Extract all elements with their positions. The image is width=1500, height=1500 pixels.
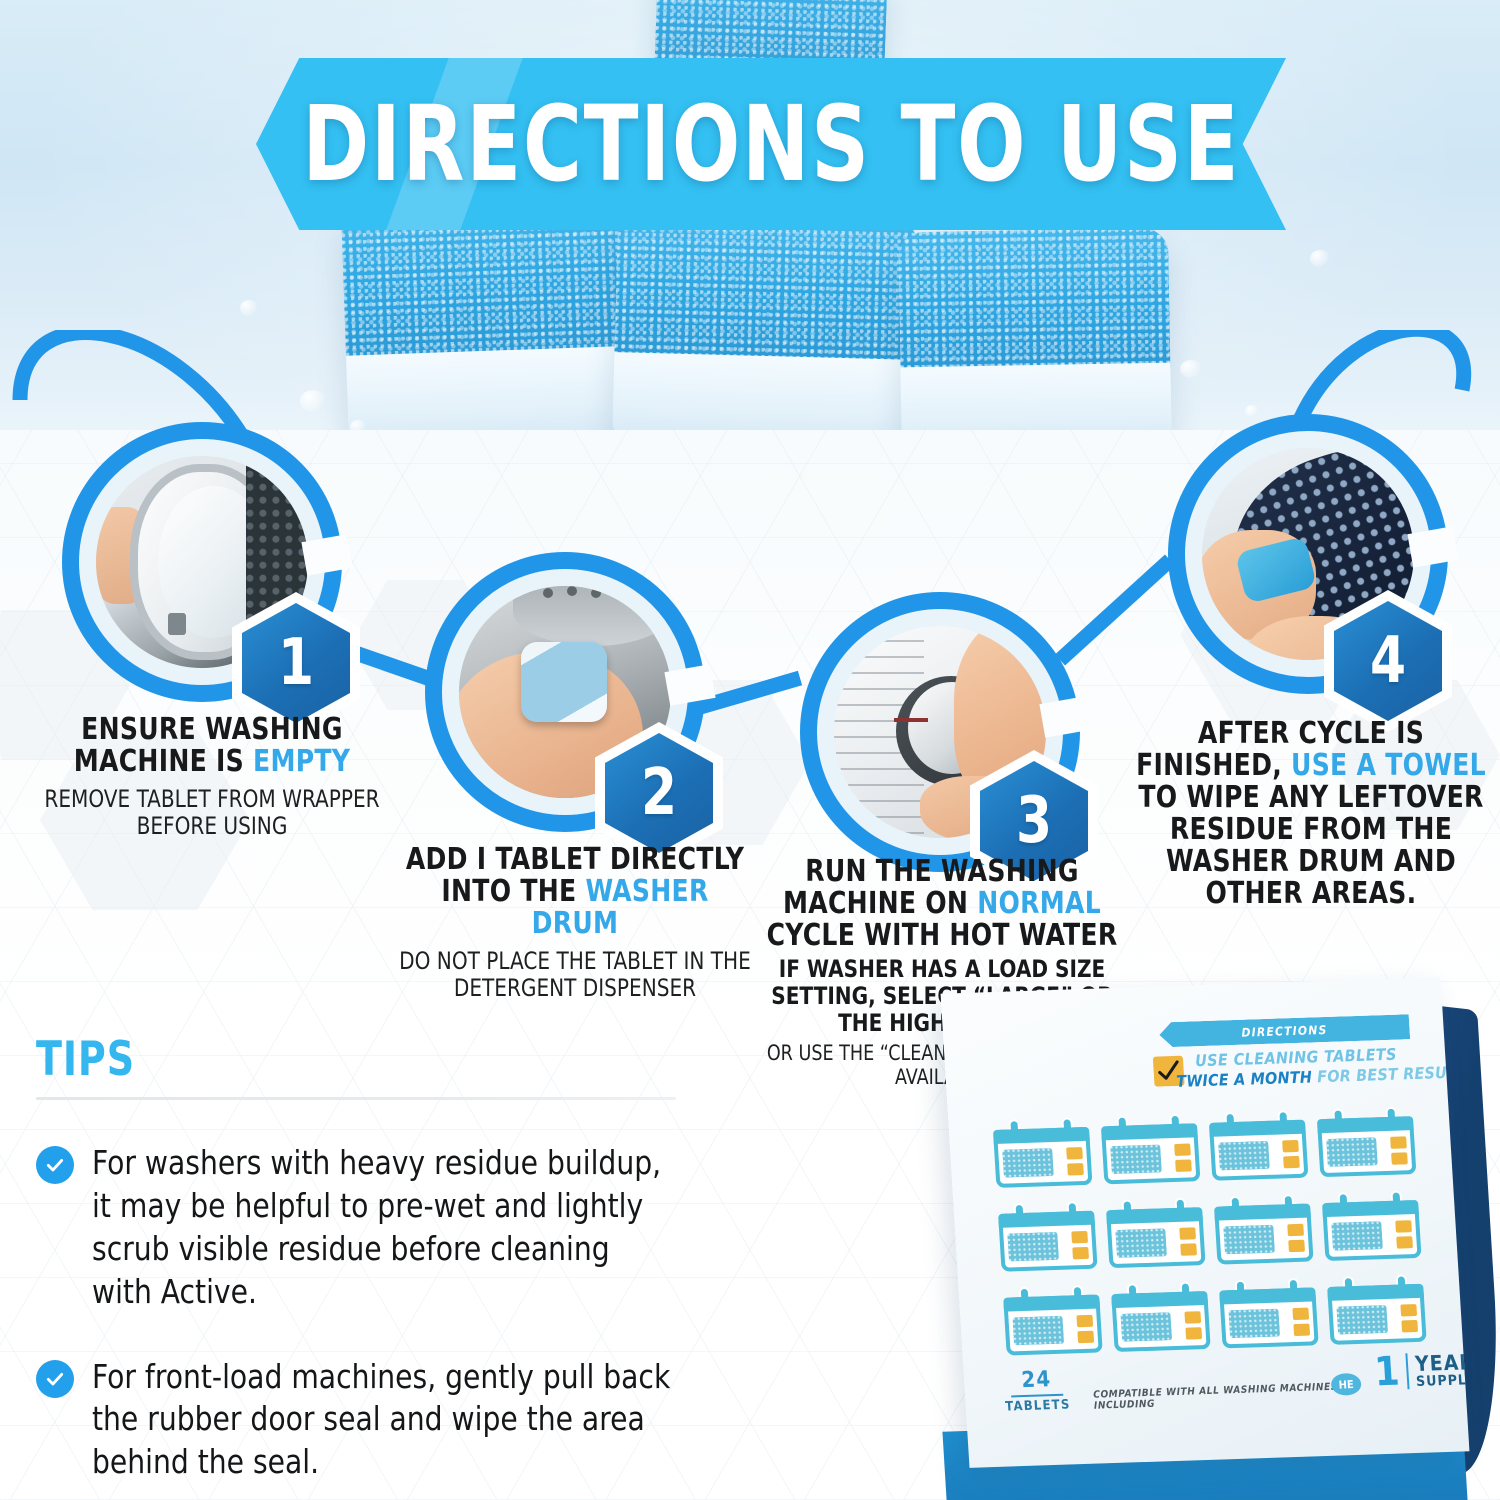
calendar-icon: [1105, 1197, 1205, 1268]
step-2: 2 ADD I TABLET DIRECTLY INTO THE WASHER …: [425, 552, 705, 832]
step-2-text: ADD I TABLET DIRECTLY INTO THE WASHER DR…: [380, 844, 770, 1002]
step-3-number: 3: [1016, 784, 1052, 858]
tip-text: For front-load machines, gently pull bac…: [92, 1356, 677, 1485]
step-2-headline: ADD I TABLET DIRECTLY INTO THE WASHER DR…: [394, 844, 757, 940]
he-badge-icon: HE: [1330, 1373, 1361, 1396]
tablet-center: [612, 211, 918, 454]
step-4-headline-highlight: USE A TOWEL: [1291, 748, 1486, 783]
water-droplet: [240, 300, 258, 316]
check-icon: [36, 1360, 74, 1398]
calendar-icon: [1100, 1113, 1200, 1184]
calendar-grid: [992, 1106, 1426, 1355]
calendar-icon: [1316, 1106, 1416, 1177]
box-tablet-count: 24 TABLETS: [1000, 1366, 1075, 1414]
box-supply-duration: 1 YEAR SUPPLY: [1373, 1349, 1469, 1392]
page-title: DIRECTIONS TO USE: [302, 83, 1240, 205]
box-supply-number: 1: [1373, 1352, 1400, 1393]
calendar-icon: [1208, 1110, 1308, 1181]
box-directions-label: DIRECTIONS: [1241, 1022, 1328, 1039]
step-1-subtext: REMOVE TABLET FROM WRAPPER BEFORE USING: [35, 786, 388, 840]
tips-heading: TIPS: [36, 1032, 641, 1087]
tips-section: TIPS For washers with heavy residue buil…: [36, 1032, 708, 1484]
step-4-circle: 4: [1168, 414, 1448, 694]
box-tablet-count-label: TABLETS: [1001, 1397, 1074, 1414]
step-3-circle: 3: [800, 592, 1080, 872]
step-1-number: 1: [278, 626, 314, 700]
box-footer: 24 TABLETS COMPATIBLE WITH ALL WASHING M…: [1000, 1355, 1433, 1421]
water-droplet: [300, 390, 326, 412]
step-4-headline: AFTER CYCLE IS FINISHED, USE A TOWEL TO …: [1135, 718, 1487, 911]
calendar-icon: [1321, 1190, 1421, 1261]
step-2-number: 2: [641, 756, 677, 830]
step-1-text: ENSURE WASHING MACHINE IS EMPTY REMOVE T…: [22, 714, 402, 840]
check-icon: [36, 1146, 74, 1184]
tip-item: For washers with heavy residue buildup, …: [36, 1142, 708, 1314]
step-3-headline-highlight: NORMAL: [977, 886, 1101, 921]
calendar-icon: [1003, 1285, 1103, 1356]
box-tablet-count-number: 24: [1000, 1366, 1074, 1393]
step-3: 3 RUN THE WASHING MACHINE ON NORMAL CYCL…: [800, 592, 1080, 872]
step-4-number: 4: [1370, 624, 1406, 698]
step-1: 1 ENSURE WASHING MACHINE IS EMPTY REMOVE…: [62, 422, 342, 702]
step-1-headline: ENSURE WASHING MACHINE IS EMPTY: [35, 714, 388, 778]
step-4-headline-after: TO WIPE ANY LEFTOVER RESIDUE FROM THE WA…: [1138, 780, 1483, 911]
box-supply-unit-year: YEAR: [1414, 1352, 1469, 1375]
step-1-headline-highlight: EMPTY: [253, 744, 350, 779]
title-banner: DIRECTIONS TO USE: [256, 58, 1286, 230]
box-compatibility-text: COMPATIBLE WITH ALL WASHING MACHINES, IN…: [1093, 1381, 1344, 1411]
step-2-subtext: DO NOT PLACE THE TABLET IN THE DETERGENT…: [394, 948, 757, 1002]
calendar-icon: [1327, 1274, 1427, 1345]
product-box: DIRECTIONS USE CLEANING TABLETS TWICE A …: [955, 985, 1500, 1500]
step-1-circle: 1: [62, 422, 342, 702]
water-droplet: [1180, 360, 1202, 378]
calendar-icon: [1213, 1194, 1313, 1265]
water-droplet: [1310, 250, 1330, 267]
box-usage-bold: TWICE A MONTH: [1176, 1067, 1313, 1090]
tip-item: For front-load machines, gently pull bac…: [36, 1356, 708, 1485]
calendar-icon: [992, 1117, 1092, 1188]
step-4-text: AFTER CYCLE IS FINISHED, USE A TOWEL TO …: [1122, 718, 1500, 911]
box-usage-rest: FOR BEST RESULTS: [1311, 1062, 1469, 1086]
step-3-headline-after: CYCLE WITH HOT WATER: [767, 918, 1118, 953]
tablet-right: [898, 228, 1172, 458]
he-badge-label: HE: [1338, 1378, 1354, 1391]
box-lid: DIRECTIONS USE CLEANING TABLETS TWICE A …: [941, 977, 1470, 1468]
step-3-headline: RUN THE WASHING MACHINE ON NORMAL CYCLE …: [756, 856, 1128, 952]
tips-divider: [36, 1097, 676, 1100]
box-supply-unit-supply: SUPPLY: [1416, 1373, 1470, 1389]
step-2-circle: 2: [425, 552, 705, 832]
box-directions-banner: DIRECTIONS: [1159, 1014, 1410, 1047]
tip-text: For washers with heavy residue buildup, …: [92, 1142, 677, 1314]
infographic-page: DIRECTIONS TO USE: [0, 0, 1500, 1500]
hero-product-photo: DIRECTIONS TO USE: [0, 0, 1500, 470]
calendar-icon: [1111, 1281, 1211, 1352]
calendar-icon: [1219, 1277, 1319, 1348]
calendar-icon: [997, 1201, 1097, 1272]
step-4: 4 AFTER CYCLE IS FINISHED, USE A TOWEL T…: [1168, 414, 1448, 694]
